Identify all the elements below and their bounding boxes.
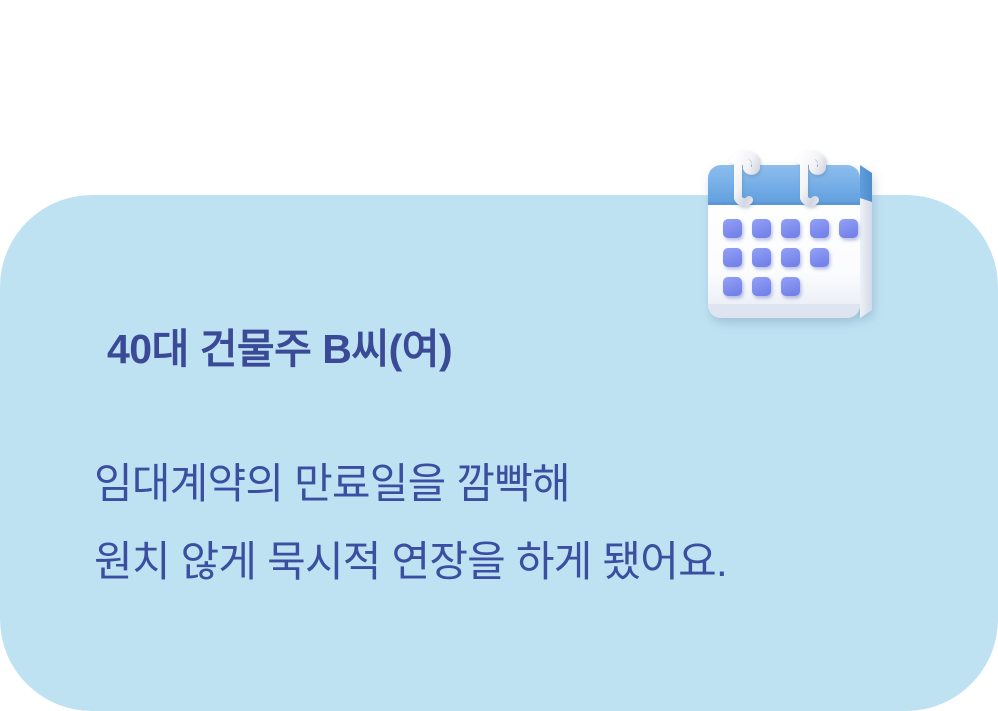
calendar-icon xyxy=(700,138,886,328)
page-title: 40대 건물주 B씨(여) xyxy=(107,326,452,373)
testimonial-body-line-1: 임대계약의 만료일을 깜빡해 xyxy=(94,445,924,523)
testimonial-body-line-2: 원치 않게 묵시적 연장을 하게 됐어요. xyxy=(94,523,924,601)
testimonial-body: 임대계약의 만료일을 깜빡해 원치 않게 묵시적 연장을 하게 됐어요. xyxy=(94,445,924,601)
screenshot-stage: 40대 건물주 B씨(여) 임대계약의 만료일을 깜빡해 원치 않게 묵시적 연… xyxy=(0,0,998,711)
